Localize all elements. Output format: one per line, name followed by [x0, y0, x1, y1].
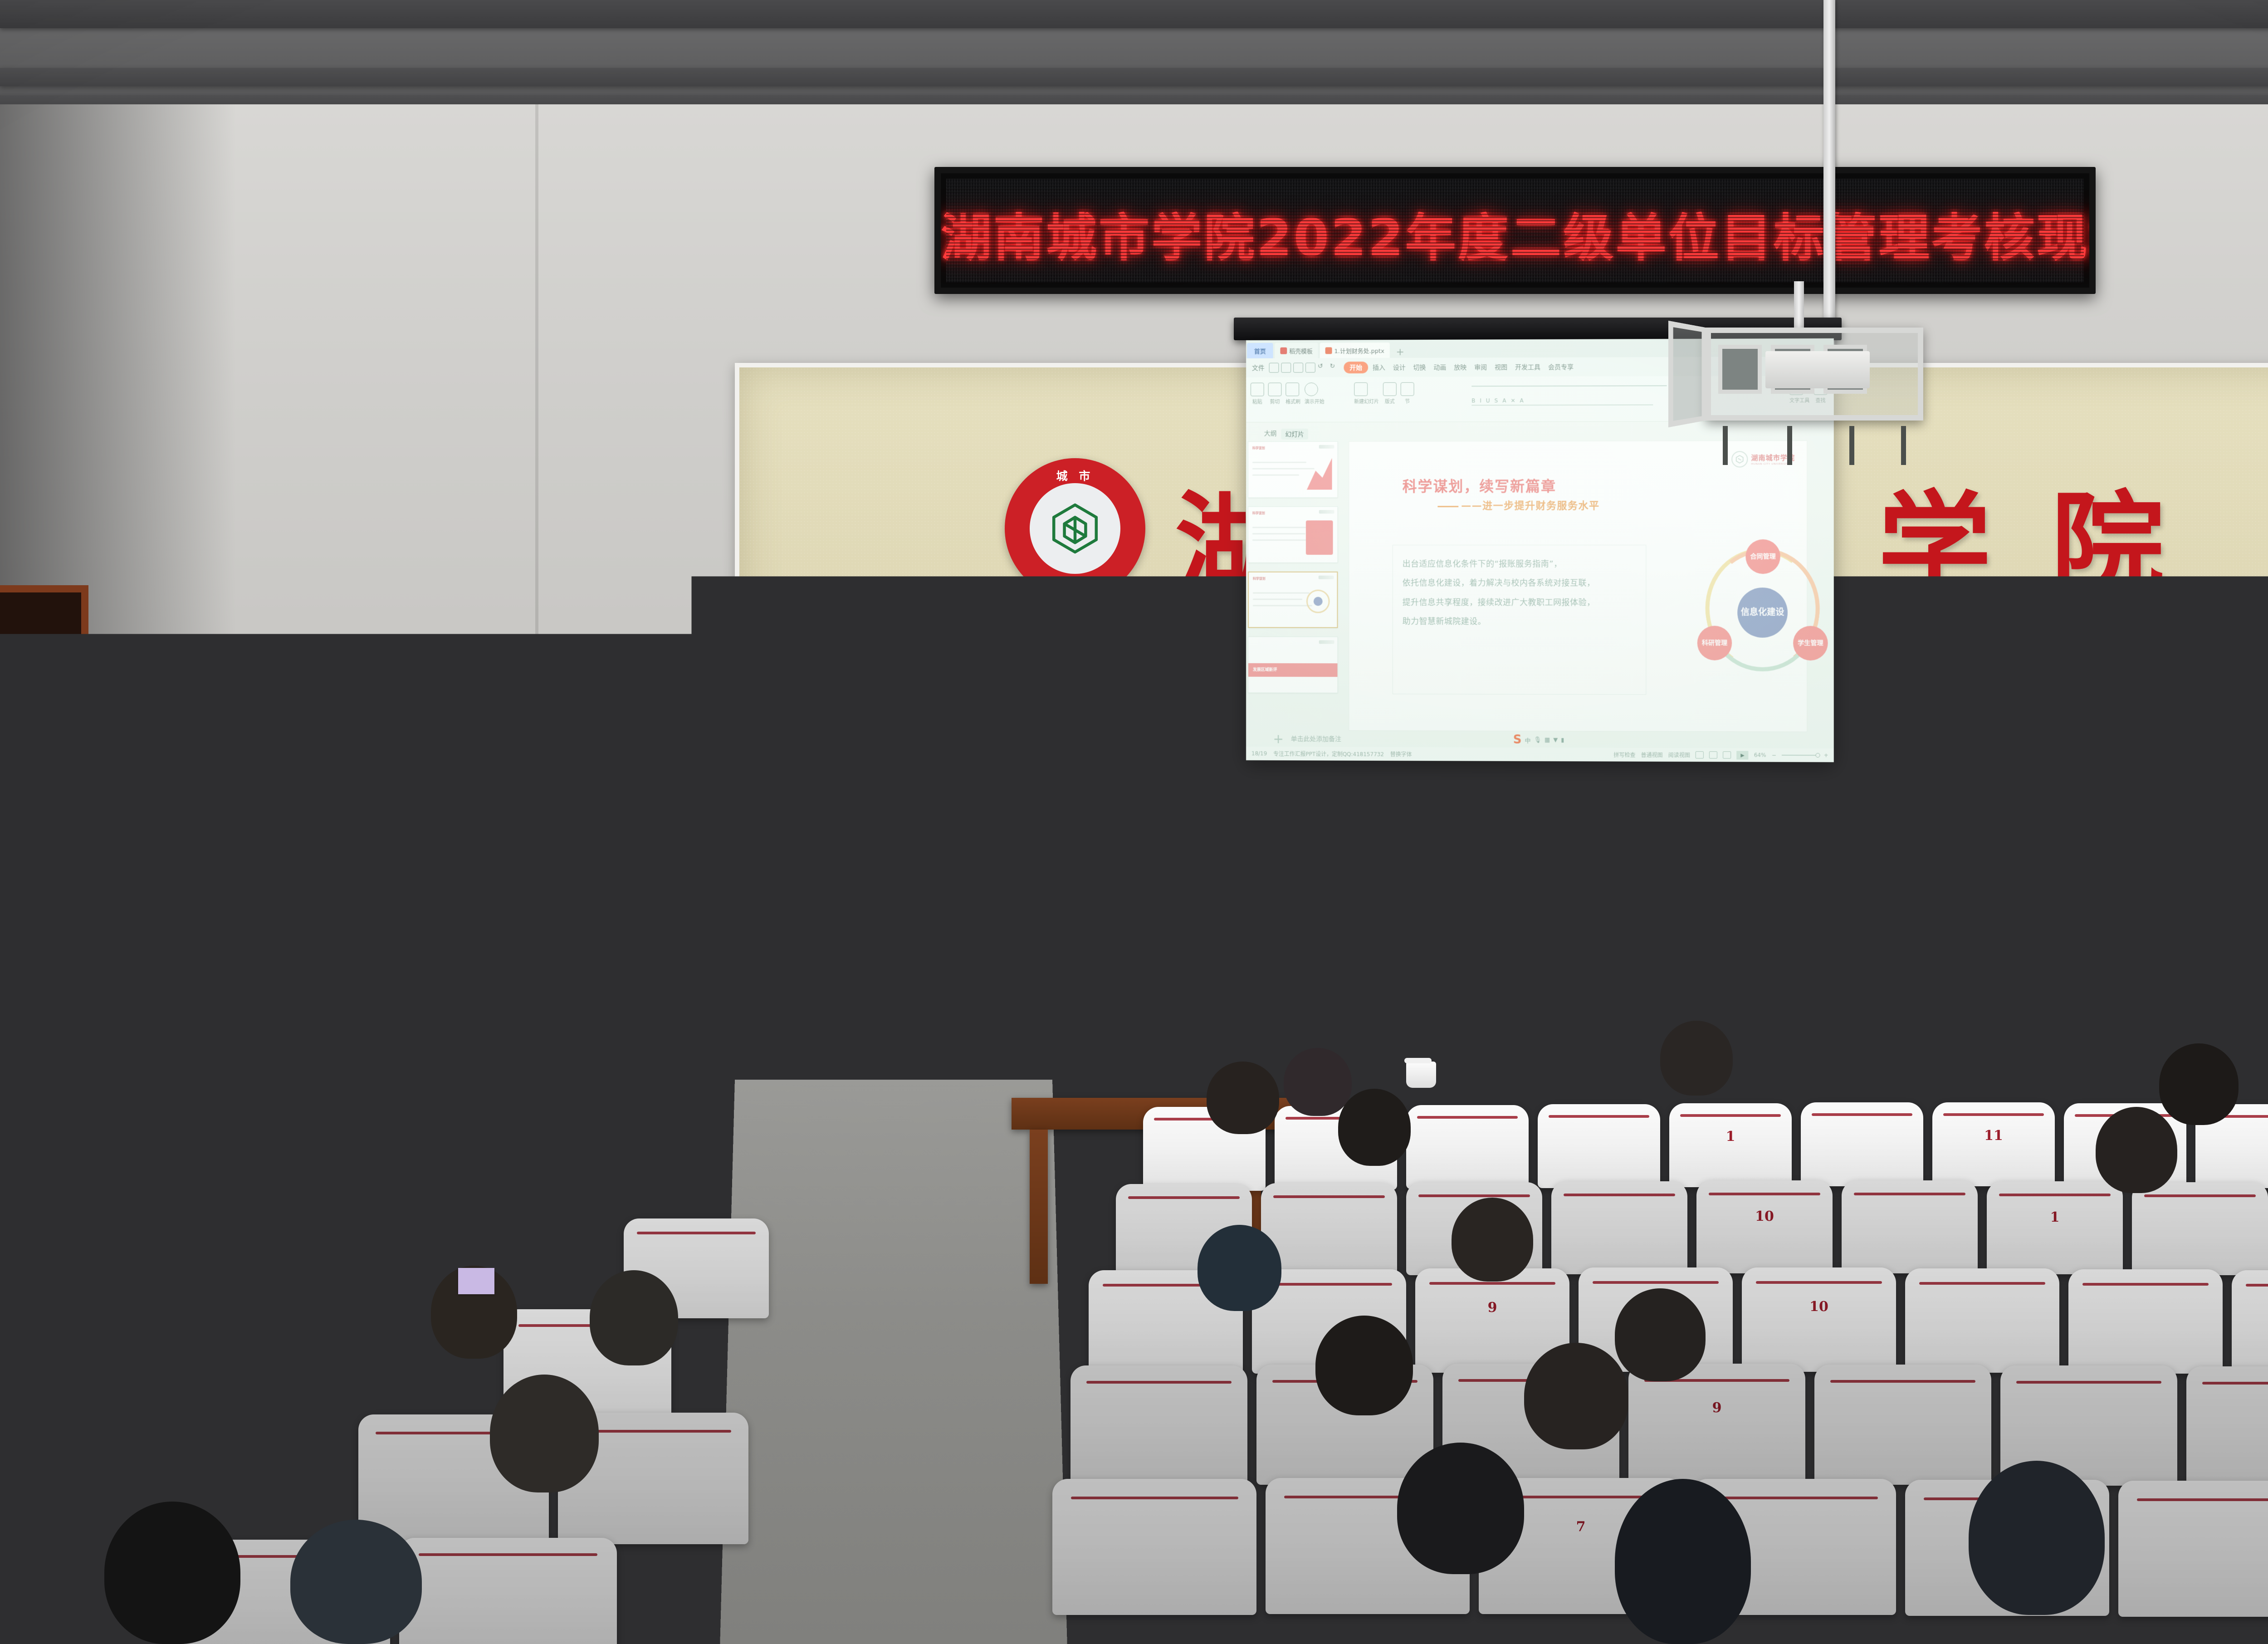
thumb-text-line [1252, 468, 1315, 470]
export-pdf-icon[interactable] [1293, 363, 1303, 373]
audience-member [1284, 1048, 1352, 1116]
teacup [1406, 1062, 1436, 1088]
tab-pptx-file[interactable]: 1.计划财务处.pptx [1320, 342, 1390, 358]
audience-seat[interactable]: 10 [1696, 1180, 1833, 1273]
audience-seat[interactable] [1538, 1104, 1660, 1188]
zoom-slider[interactable] [1782, 755, 1818, 756]
audience-seat[interactable] [0, 1225, 132, 1325]
audience-seat[interactable] [1842, 1180, 1978, 1273]
slide-counter: 18/19 [1251, 750, 1267, 757]
ribbon-paste-label: 粘贴 [1251, 398, 1264, 405]
slide-body-line-4: 助力智慧新城院建设。 [1403, 612, 1629, 632]
menu-developer[interactable]: 开发工具 [1512, 362, 1544, 372]
led-banner: 湖南城市学院2022年度二级单位目标管理考核现场述职 [934, 167, 2096, 294]
audience-member [354, 1179, 426, 1257]
auditorium-scene: 湖南城市学院2022年度二级单位目标管理考核现场述职 城 市 Hunan Cit… [0, 0, 2268, 1644]
view-reading-button[interactable]: 阅读视图 [1668, 751, 1690, 758]
ribbon-newslide-label: 新建幻灯片 [1354, 398, 1379, 405]
bold-icon[interactable]: B [1471, 397, 1476, 404]
audience-member [590, 1270, 678, 1365]
ime-toolbox-icon[interactable]: ▮ [1561, 737, 1564, 744]
audience-member [490, 1375, 599, 1492]
ribbon-painter-label: 格式刷 [1286, 398, 1300, 405]
slide-body-line-1: 出台适应信息化条件下的“报账服务指南”， [1403, 555, 1629, 574]
audience-seat[interactable] [2118, 1481, 2268, 1617]
slide-thumbnail[interactable]: 科学谋划 [1248, 506, 1338, 563]
ime-voice-icon[interactable]: 🎙 [1534, 736, 1541, 743]
start-slideshow-button[interactable]: ▶ [1736, 751, 1748, 759]
zoom-in-button[interactable]: + [1824, 752, 1828, 758]
thumb-logo [1319, 445, 1334, 449]
thumb-text-line [1253, 599, 1302, 600]
redo-icon[interactable]: ↻ [1330, 362, 1340, 372]
seat-number: 4 [52, 1350, 62, 1365]
thumb-text-line [1252, 533, 1305, 534]
menu-animation[interactable]: 动画 [1430, 362, 1449, 373]
pptx-file-icon [1325, 347, 1332, 354]
chair-frame [968, 822, 978, 905]
diagram-center-node: 信息化建设 [1737, 587, 1788, 637]
cube-mark-icon [1046, 499, 1105, 558]
audience-seat[interactable] [2132, 1182, 2268, 1275]
chair-frame [1066, 822, 1076, 905]
projector-leg [1723, 426, 1728, 465]
zoom-level: 64% [1754, 752, 1766, 758]
chair-frame [2208, 823, 2218, 907]
thumb-text-line [1253, 592, 1310, 594]
audience-seat[interactable] [1905, 1268, 2059, 1373]
rostrum-front-panel [1755, 951, 2000, 1065]
thumb-logo [1319, 576, 1334, 579]
menu-design[interactable]: 设计 [1390, 362, 1409, 373]
projector-leg [1901, 426, 1906, 465]
kettle-lid [64, 1013, 117, 1023]
undo-icon[interactable]: ↺ [1318, 362, 1328, 372]
thumb-title: 科学谋划 [1252, 446, 1265, 450]
paper-sheet [1198, 1415, 1266, 1438]
audience-member [535, 1189, 610, 1268]
menu-file[interactable]: 文件 [1249, 362, 1268, 373]
zoom-out-button[interactable]: − [1772, 752, 1776, 758]
menu-insert[interactable]: 插入 [1369, 362, 1388, 373]
executive-chair[interactable] [841, 817, 939, 914]
audience-member [91, 1379, 195, 1492]
thumb-text-line [1252, 475, 1299, 476]
ime-mode[interactable]: 中 [1525, 735, 1530, 744]
rostrum-desktop [875, 900, 2268, 920]
emblem-ring-top-text: 城 市 [1005, 467, 1145, 484]
slide-logo-ring-icon [1731, 451, 1748, 467]
chair-frame [1240, 820, 1250, 904]
font-name-box[interactable] [1471, 385, 1667, 387]
audience-seat[interactable]: 1 [1987, 1181, 2123, 1274]
projector-leg [1849, 426, 1854, 465]
tab-pptx-label: 1.计划财务处.pptx [1334, 346, 1384, 355]
audience-member [1615, 1288, 1706, 1381]
teacup [1869, 887, 1892, 908]
thumb-diagram-center [1314, 597, 1323, 606]
quick-access-toolbar: ↺ ↻ [1269, 362, 1340, 372]
slide-cube-icon [1735, 454, 1745, 464]
format-painter-icon[interactable] [1286, 382, 1299, 396]
view-outline-tab[interactable]: 大纲 [1264, 429, 1277, 440]
diagram-node-right: 学生管理 [1793, 626, 1828, 661]
audience-member [252, 1198, 324, 1275]
podium-control-buttons[interactable] [677, 819, 724, 829]
italic-icon[interactable]: I [1480, 397, 1482, 404]
thumb-title: 科学谋划 [1252, 511, 1265, 515]
wall-seam-left [535, 104, 538, 1071]
teacup [1823, 1062, 1853, 1088]
thumb-chart-art [1307, 458, 1332, 490]
audience-seat[interactable] [1814, 1365, 1991, 1485]
thumb-title: 科学谋划 [1253, 577, 1266, 581]
table-leg [1030, 1130, 1048, 1284]
slide-thumbnail[interactable]: 科学谋划 [1248, 441, 1338, 498]
audience-member [1660, 1021, 1733, 1096]
seat-number: 3 [91, 1170, 100, 1186]
seat-number: 10 [1755, 1209, 1774, 1224]
panel-diamond [918, 974, 1123, 1042]
audience-member [254, 1275, 338, 1365]
ceiling-beam-mid [0, 68, 2268, 86]
chair-frame [2161, 822, 2171, 906]
ceiling-projector-cage [1706, 328, 1923, 421]
audience-seat[interactable] [1261, 1183, 1397, 1276]
menu-view[interactable]: 视图 [1491, 362, 1510, 372]
chair-frame [1782, 821, 1792, 905]
tab-docer-template[interactable]: 稻壳模板 [1275, 343, 1318, 358]
tab-home[interactable]: 首页 [1247, 343, 1273, 358]
audience-seat[interactable] [2068, 1269, 2223, 1374]
executive-chair[interactable] [2068, 815, 2166, 913]
notes-placeholder[interactable]: 单击此处添加备注 [1291, 734, 1341, 743]
thumb-text-line [1252, 527, 1312, 528]
audience-seat[interactable] [1801, 1102, 1923, 1186]
audience-member [1315, 1316, 1413, 1415]
wall-character-pin: 品 [1143, 676, 1181, 731]
podium-button-green[interactable] [689, 819, 699, 829]
executive-chair[interactable] [1510, 813, 1608, 910]
teacup [1402, 890, 1425, 911]
seat-number: 1 [2050, 1209, 2060, 1225]
chair-frame [1505, 820, 1515, 904]
thumb-logo [1319, 510, 1334, 514]
audience-member [64, 1093, 127, 1152]
executive-chair[interactable] [973, 814, 1070, 912]
paste-icon[interactable] [1251, 383, 1264, 396]
wall-english-name: ERSITY [1864, 576, 2028, 617]
ime-toolbar[interactable]: S 中 🎙 ▦ ▼ ▮ [1513, 734, 1564, 746]
audience-member [2096, 1107, 2177, 1193]
seat-number: 9 [1712, 1400, 1722, 1416]
ime-emoji-icon[interactable]: ▦ [1545, 737, 1550, 744]
audience-member [1338, 1089, 1411, 1166]
slide-subtitle: ——进一步提升财务服务水平 [1437, 498, 1599, 512]
slide-thumbnail-selected[interactable]: 科学谋划 [1248, 572, 1338, 628]
layout-icon[interactable] [1383, 382, 1397, 396]
audience-seat[interactable] [399, 1538, 617, 1644]
new-slide-icon[interactable] [1354, 382, 1368, 396]
audience-member [2159, 1043, 2239, 1125]
yellow-note [272, 1111, 363, 1130]
slide-thumbnail[interactable]: 发展区域新评 [1248, 636, 1338, 693]
audience-seat[interactable] [1551, 1181, 1687, 1274]
university-emblem: 城 市 Hunan City University [1005, 458, 1145, 599]
view-master-icon[interactable] [1709, 751, 1717, 758]
podium-laptop [730, 779, 826, 809]
executive-chair[interactable] [1245, 813, 1343, 910]
cut-icon[interactable] [1268, 382, 1282, 396]
podium-button-teal[interactable] [715, 819, 724, 829]
slide-logo: 湖南城市学院 HUNAN CITY UNIVERSITY [1731, 451, 1795, 467]
ribbon-layout-label: 版式 [1383, 398, 1397, 405]
chair-frame [1101, 821, 1111, 905]
slide-statusbar: 18/19 专注工作汇报PPT设计，定制QQ:418157732 替换字体 拼写… [1246, 747, 1834, 762]
menu-slideshow[interactable]: 放映 [1451, 362, 1470, 372]
view-normal-button[interactable]: 普通视图 [1641, 751, 1662, 758]
template-credit: 专注工作汇报PPT设计，定制QQ:418157732 [1273, 750, 1384, 758]
audience-member [540, 1107, 608, 1175]
emblem-inner-disc [1030, 483, 1120, 574]
audience-seat[interactable] [1406, 1105, 1529, 1189]
led-banner-text: 湖南城市学院2022年度二级单位目标管理考核现场述职 [941, 197, 2089, 270]
panel-diamond [1771, 974, 1984, 1042]
diagram-node-left: 科研管理 [1697, 626, 1732, 660]
clear-format-icon[interactable]: ✕ [1510, 397, 1515, 404]
ceiling-beam-top [0, 0, 2268, 28]
print-icon[interactable] [1281, 363, 1291, 373]
seat-number: 7 [1576, 1519, 1586, 1535]
slide-diagram: 合同管理 科研管理 学生管理 信息化建设 [1694, 537, 1834, 692]
projector-cage-window [1718, 345, 1762, 394]
slide-body-line-3: 提升信息共享程度，接续改进广大教职工网报体验， [1403, 593, 1629, 612]
audience-member [1198, 1225, 1281, 1311]
thumb-text-line [1252, 462, 1306, 463]
seat-number: 10 [1809, 1299, 1828, 1315]
ribbon-cut-label: 剪切 [1268, 398, 1282, 405]
diagram-node-top: 合同管理 [1745, 539, 1780, 574]
add-slide-button[interactable]: + [1273, 731, 1284, 746]
executive-chair[interactable] [2214, 816, 2268, 913]
audience-seat[interactable] [2232, 1270, 2268, 1375]
font-format-row[interactable] [1471, 404, 1653, 406]
tab-docer-label: 稻壳模板 [1289, 346, 1313, 355]
section-icon[interactable] [1401, 382, 1414, 396]
save-icon[interactable] [1269, 363, 1279, 373]
audience-seat[interactable]: 3 [27, 1143, 163, 1234]
audience-member [104, 1502, 240, 1644]
chair-frame [2063, 822, 2073, 906]
spellcheck-status[interactable]: 拼写检查 [1613, 751, 1635, 758]
name-placard-name: 何振 [1944, 883, 1999, 901]
view-slides-tab[interactable]: 幻灯片 [1281, 429, 1308, 440]
projector-cage-door[interactable] [1668, 321, 1706, 427]
thumb-logo [1319, 640, 1334, 644]
audience-member [236, 1361, 345, 1479]
projector-leg [1787, 426, 1792, 465]
subtitle-dash [1437, 506, 1458, 507]
audience-member [290, 1520, 422, 1644]
executive-chair[interactable] [1107, 813, 1204, 911]
ribbon-play-label: 演示开始 [1305, 398, 1325, 405]
font-color-icon[interactable]: A [1520, 397, 1524, 404]
audience-seat[interactable] [1052, 1479, 1256, 1615]
audience-seat[interactable]: 11 [1932, 1102, 2055, 1186]
slide-body-line-2: 依托信息化建设，着力解决与校内各系统对接互联， [1403, 574, 1629, 593]
chair-frame [1603, 820, 1613, 904]
presenter-face [734, 710, 776, 761]
audience-seat[interactable] [2186, 1366, 2268, 1487]
audience-member [463, 1120, 531, 1189]
text-shadow-icon[interactable]: A [1502, 397, 1506, 404]
statusbar-right-group: 拼写检查 普通视图 阅读视图 ▶ 64% − + [1613, 750, 1828, 760]
center-aisle [719, 1080, 1069, 1644]
view-reading-icon[interactable] [1723, 751, 1731, 758]
rostrum-front-panel [2046, 951, 2268, 1065]
menu-transition[interactable]: 切换 [1410, 362, 1429, 373]
wall-rule-right [1878, 662, 2023, 668]
thumb-banner-art: 发展区域新评 [1248, 663, 1337, 677]
ime-clipboard-icon[interactable]: ▼ [1553, 737, 1558, 744]
new-tab-button[interactable]: + [1392, 347, 1409, 358]
play-icon[interactable] [1305, 382, 1318, 396]
seat-number: 5 [50, 1459, 59, 1475]
audience-member [1207, 1062, 1279, 1134]
slide-title: 科学谋划，续写新篇章 [1403, 475, 1556, 496]
thumb-banner-text: 发展区域新评 [1253, 668, 1277, 672]
view-notes-icon[interactable] [1696, 751, 1704, 758]
slide-subtitle-text: ——进一步提升财务服务水平 [1461, 500, 1599, 512]
thumb-steps-art [1306, 520, 1333, 555]
microphone-base [939, 893, 962, 900]
menu-review[interactable]: 审阅 [1471, 362, 1490, 372]
seat-number: 1 [1726, 1129, 1735, 1145]
ribbon-section-label: 节 [1401, 398, 1414, 405]
seat-number: 4 [211, 1252, 220, 1268]
seat-number: 9 [1488, 1300, 1497, 1316]
seat-number: 6 [50, 1578, 59, 1594]
menu-member[interactable]: 会员专享 [1545, 362, 1577, 372]
chair-frame [2021, 822, 2031, 905]
audience-member [1615, 1479, 1751, 1644]
audience-member [1969, 1461, 2105, 1615]
sogou-ime-icon[interactable]: S [1513, 734, 1522, 746]
underline-icon[interactable]: U [1486, 397, 1491, 404]
audience-member [1452, 1198, 1533, 1282]
chair-frame [1338, 820, 1348, 904]
projector-mount-rod [1794, 281, 1804, 331]
search-icon[interactable] [1305, 362, 1315, 372]
slide-thumbnail-pane[interactable]: 科学谋划 科学谋划 科学谋划 [1248, 441, 1342, 731]
thumb-text-line [1253, 605, 1312, 606]
emblem-ring-bottom-text: Hunan City University [1005, 581, 1145, 592]
view-toggle: 大纲 幻灯片 [1264, 429, 1308, 440]
menu-start[interactable]: 开始 [1344, 362, 1368, 373]
podium-button-gray[interactable] [677, 819, 686, 829]
audience-seat[interactable]: 9 [1628, 1364, 1805, 1484]
strikethrough-icon[interactable]: S [1495, 397, 1499, 404]
docer-icon [1280, 347, 1287, 354]
podium-button-white[interactable] [702, 819, 712, 829]
panel-diamond [1485, 974, 1694, 1042]
audience-member [1524, 1343, 1628, 1449]
font-replace-tool[interactable]: 替换字体 [1390, 750, 1412, 758]
slide-body-text: 出台适应信息化条件下的“报账服务指南”， 依托信息化建设，着力解决与校内各系统对… [1403, 555, 1629, 631]
audience-member [1397, 1443, 1524, 1574]
audience-seat[interactable]: 10 [1742, 1267, 1896, 1372]
purple-card [458, 1268, 494, 1294]
zoom-slider-knob[interactable] [1815, 753, 1820, 758]
air-conditioner [0, 880, 52, 1071]
chair-frame [1200, 821, 1210, 905]
current-slide[interactable]: 湖南城市学院 HUNAN CITY UNIVERSITY 科学谋划，续写新篇章 … [1349, 440, 1807, 732]
audience-seat[interactable]: 1 [1669, 1103, 1792, 1187]
panel-diamond [2061, 974, 2266, 1042]
seat-number: 11 [1984, 1128, 2003, 1144]
ac-vents-icon [0, 891, 34, 959]
projector-unit [1765, 351, 1870, 388]
panel-diamond [1199, 974, 1408, 1042]
